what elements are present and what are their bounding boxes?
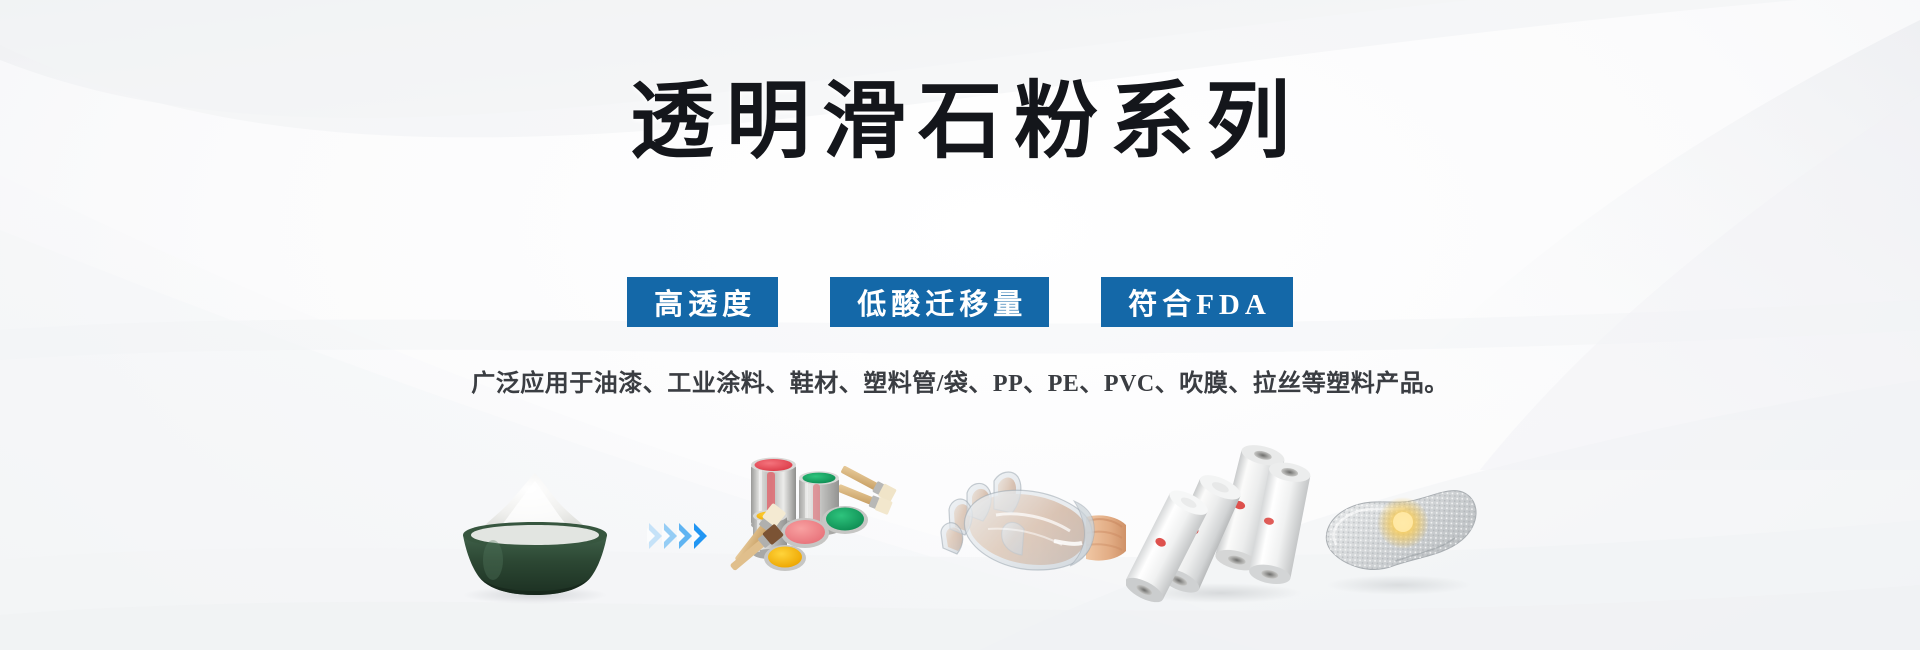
badge-low-acid-migration[interactable]: 低酸迁移量 (830, 277, 1049, 327)
page-title: 透明滑石粉系列 (618, 78, 1302, 169)
chevron-right-icon (679, 523, 692, 549)
talc-powder-bowl-image (435, 465, 635, 605)
chevron-right-icon (664, 523, 677, 549)
chevron-right-icon (649, 523, 662, 549)
shoe-sole-image (1311, 465, 1486, 605)
title-container: 透明滑石粉系列 (0, 78, 1920, 169)
application-description: 广泛应用于油漆、工业涂料、鞋材、塑料管/袋、PP、PE、PVC、吹膜、拉丝等塑料… (0, 363, 1920, 398)
plastic-glove-hand-image (936, 455, 1126, 605)
film-rolls-image (1126, 445, 1311, 605)
chevron-right-icon (694, 523, 707, 549)
badge-high-transparency[interactable]: 高透度 (627, 277, 778, 327)
process-arrow-group (635, 523, 721, 605)
feature-badge-group: 高透度 低酸迁移量 符合FDA (0, 277, 1920, 327)
product-banner: 透明滑石粉系列 高透度 低酸迁移量 符合FDA 广泛应用于油漆、工业涂料、鞋材、… (0, 0, 1920, 650)
badge-fda-compliant[interactable]: 符合FDA (1101, 277, 1293, 327)
product-image-strip (0, 430, 1920, 605)
paint-cans-image (721, 430, 936, 605)
